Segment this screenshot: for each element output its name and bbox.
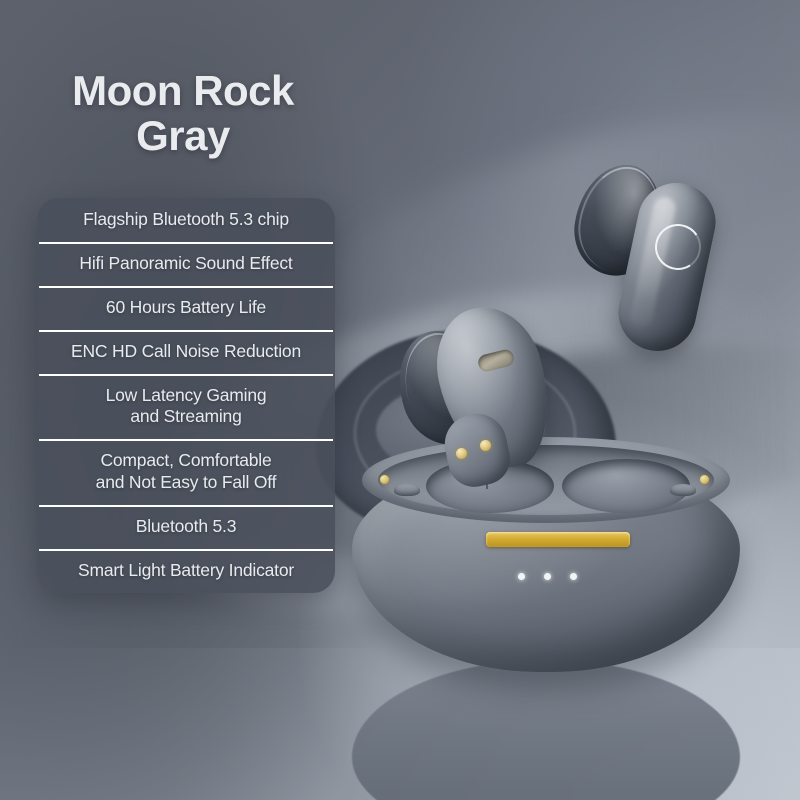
feature-item-hifi-sound: Hifi Panoramic Sound Effect: [37, 242, 335, 286]
earbud-left-charging-pin-1: [456, 448, 467, 459]
feature-item-compact-line-2: and Not Easy to Fall Off: [49, 472, 323, 494]
battery-led-3: [570, 573, 577, 580]
page-title: Moon Rock Gray: [18, 68, 348, 159]
battery-led-2: [544, 573, 551, 580]
feature-item-low-latency-line-2: and Streaming: [49, 406, 323, 428]
case-charging-pin-left: [380, 475, 389, 484]
feature-item-bluetooth-version: Bluetooth 5.3: [37, 505, 335, 549]
feature-item-low-latency-line-1: Low Latency Gaming: [49, 385, 323, 407]
case-latch-right: [670, 484, 696, 496]
case-charging-pin-right: [700, 475, 709, 484]
feature-item-compact-comfortable: Compact, Comfortable and Not Easy to Fal…: [37, 439, 335, 505]
feature-item-low-latency: Low Latency Gaming and Streaming: [37, 374, 335, 440]
earbud-left-charging-pin-2: [480, 440, 491, 451]
product-banner: Moon Rock Gray Flagship Bluetooth 5.3 ch…: [0, 0, 800, 800]
feature-item-battery-life: 60 Hours Battery Life: [37, 286, 335, 330]
gold-accent-bar: [486, 532, 630, 547]
battery-led-1: [518, 573, 525, 580]
feature-item-smart-light-indicator: Smart Light Battery Indicator: [37, 549, 335, 593]
page-title-line-1: Moon Rock: [18, 68, 348, 113]
page-title-line-2: Gray: [18, 113, 348, 158]
feature-item-enc-noise-reduction: ENC HD Call Noise Reduction: [37, 330, 335, 374]
battery-led-indicator-group: [518, 573, 598, 583]
feature-item-compact-line-1: Compact, Comfortable: [49, 450, 323, 472]
earbud-left: [400, 296, 580, 486]
feature-item-flagship-chip: Flagship Bluetooth 5.3 chip: [37, 198, 335, 242]
earbud-right: [572, 162, 714, 358]
feature-list-panel: Flagship Bluetooth 5.3 chip Hifi Panoram…: [37, 198, 335, 593]
